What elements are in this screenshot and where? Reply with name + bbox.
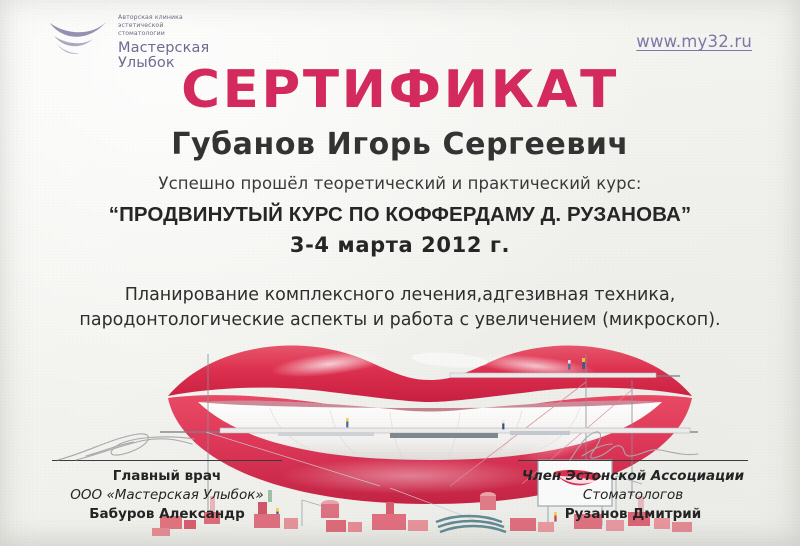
signature-scribble-left-icon xyxy=(42,430,292,464)
signature-scribble-right-icon xyxy=(508,430,758,464)
brand-tagline: Авторская клиника эстетической стоматоло… xyxy=(118,14,210,37)
certificate-document: Авторская клиника эстетической стоматоло… xyxy=(0,0,800,546)
website-link[interactable]: www.my32.ru xyxy=(636,32,752,51)
signature-rule-right xyxy=(518,460,748,461)
course-description-line1: Планирование комплексного лечения,адгези… xyxy=(0,283,800,308)
course-title: “ПРОДВИНУТЫЙ КУРС ПО КОФФЕРДАМУ Д. РУЗАН… xyxy=(0,203,800,227)
signature-right-org: Стоматологов xyxy=(508,486,758,505)
signature-right-role: Член Эстонской Ассоциации xyxy=(508,467,758,486)
signature-rule-left xyxy=(52,460,282,461)
certificate-title: СЕРТИФИКАТ xyxy=(0,60,800,120)
brand-tagline-line2: эстетической стоматологии xyxy=(118,22,165,37)
signature-block-left: Главный врач ООО «Мастерская Улыбок» Баб… xyxy=(42,430,292,524)
course-description-line2: пародонтологические аспекты и работа с у… xyxy=(0,308,800,333)
brand-name-line1: Мастерская xyxy=(118,40,209,56)
signature-block-right: Член Эстонской Ассоциации Стоматологов Р… xyxy=(508,430,758,524)
completion-text: Успешно прошёл теоретический и практичес… xyxy=(0,174,800,193)
signature-left-role: Главный врач xyxy=(42,467,292,486)
course-description: Планирование комплексного лечения,адгези… xyxy=(0,283,800,334)
platform-decks xyxy=(220,373,690,438)
recipient-name: Губанов Игорь Сергеевич xyxy=(0,127,800,162)
signature-left-person: Бабуров Александр xyxy=(42,505,292,524)
course-date: 3-4 марта 2012 г. xyxy=(0,233,800,257)
signature-left-org: ООО «Мастерская Улыбок» xyxy=(42,486,292,505)
smile-swoosh-logo-icon xyxy=(48,10,110,58)
brand-tagline-line1: Авторская клиника xyxy=(118,14,183,21)
signature-right-person: Рузанов Дмитрий xyxy=(508,505,758,524)
